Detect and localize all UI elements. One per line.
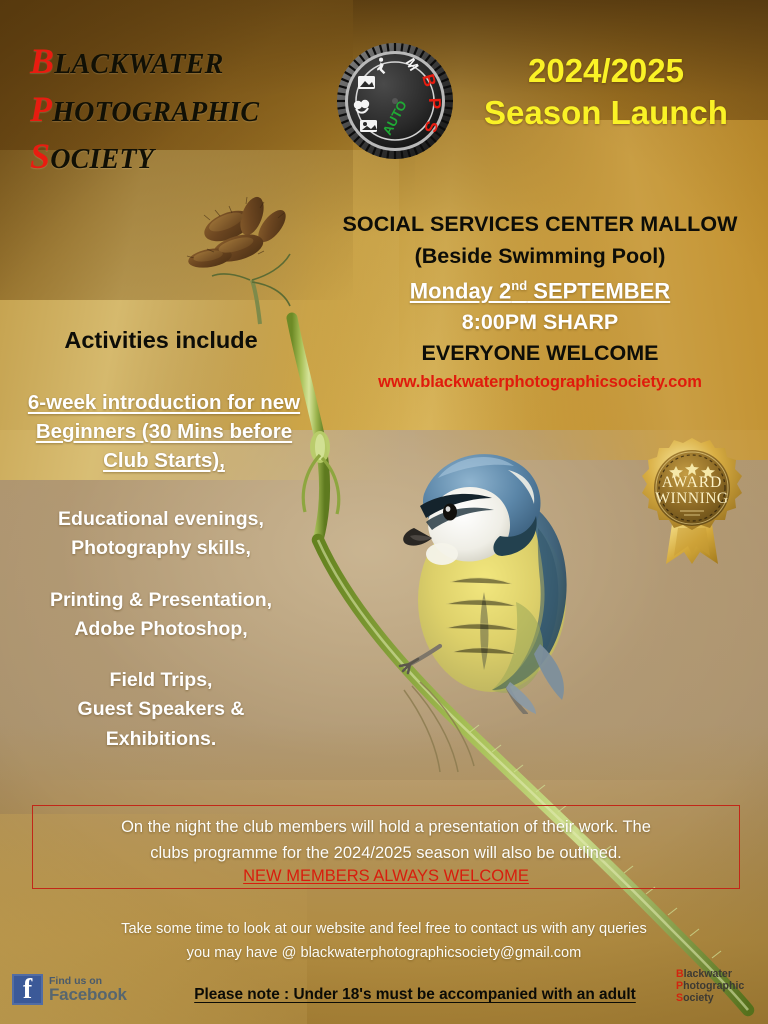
season-year: 2024/2025 xyxy=(456,50,756,92)
mini-logo-cap-b: B xyxy=(676,968,684,980)
club-title-cap-b: B xyxy=(30,41,54,81)
award-line2: WINNING xyxy=(655,490,728,507)
award-rosette-icon: AWARD WINNING xyxy=(622,432,762,566)
club-title-line-3: SOCIETY xyxy=(30,133,340,181)
season-launch-heading: 2024/2025 Season Launch xyxy=(456,50,756,133)
age-restriction-note: Please note : Under 18's must be accompa… xyxy=(160,986,670,1004)
facebook-badge[interactable]: f Find us on Facebook xyxy=(12,974,127,1005)
club-title-line-2: PHOTOGRAPHIC xyxy=(30,86,340,134)
club-title-cap-p: P xyxy=(30,89,52,129)
svg-text:P: P xyxy=(425,97,444,109)
notice-line-1: On the night the club members will hold … xyxy=(51,815,721,841)
facebook-glyph: f xyxy=(23,975,32,1005)
activities-list: Educational evenings, Photography skills… xyxy=(16,505,306,754)
activity-item: Guest Speakers & xyxy=(16,695,306,724)
activity-group-3: Field Trips, Guest Speakers & Exhibition… xyxy=(16,666,306,754)
activity-item: Exhibitions. xyxy=(16,725,306,754)
venue-details: SOCIAL SERVICES CENTER MALLOW (Beside Sw… xyxy=(316,212,764,392)
camera-mode-dial-icon: M B P S AUTO xyxy=(334,40,456,162)
facebook-f-icon[interactable]: f xyxy=(12,974,43,1005)
activity-item: Field Trips, xyxy=(16,666,306,695)
everyone-welcome: EVERYONE WELCOME xyxy=(316,341,764,366)
activity-item: Photography skills, xyxy=(16,534,306,563)
mini-logo-rest-photographic: hotographic xyxy=(683,980,744,992)
activity-group-1: Educational evenings, Photography skills… xyxy=(16,505,306,564)
club-title-rest-society: OCIETY xyxy=(50,144,154,175)
event-date-day: Monday 2 xyxy=(410,278,511,303)
website-link[interactable]: www.blackwaterphotographicsociety.com xyxy=(316,373,764,392)
contact-line-1: Take some time to look at our website an… xyxy=(34,918,734,942)
activity-item: Adobe Photoshop, xyxy=(16,615,306,644)
season-label: Season Launch xyxy=(456,92,756,134)
event-time: 8:00PM SHARP xyxy=(316,310,764,335)
notice-line-2: clubs programme for the 2024/2025 season… xyxy=(51,841,721,867)
mini-logo-rest-blackwater: lackwater xyxy=(684,968,732,980)
contact-line-2[interactable]: you may have @ blackwaterphotographicsoc… xyxy=(34,942,734,966)
club-title-cap-s: S xyxy=(30,136,50,176)
beginners-course-note: 6-week introduction for new Beginners (3… xyxy=(20,388,308,475)
notice-box: On the night the club members will hold … xyxy=(32,805,740,889)
club-title-rest-photographic: HOTOGRAPHIC xyxy=(52,97,259,128)
poster-canvas: M B P S AUTO xyxy=(0,0,768,1024)
venue-location-note: (Beside Swimming Pool) xyxy=(316,244,764,269)
mini-logo-line-2: Photographic xyxy=(676,980,744,992)
mini-logo-line-1: Blackwater xyxy=(676,968,744,980)
mini-logo-rest-society: ociety xyxy=(683,992,714,1004)
facebook-wordmark: Facebook xyxy=(49,986,127,1003)
activity-item: Educational evenings, xyxy=(16,505,306,534)
event-date-month: SEPTEMBER xyxy=(527,278,670,303)
blue-tit-bird-photo xyxy=(380,432,602,714)
club-title: BLACKWATER PHOTOGRAPHIC SOCIETY xyxy=(30,38,340,181)
club-title-rest-blackwater: LACKWATER xyxy=(54,49,223,80)
event-date-ordinal: nd xyxy=(511,278,527,293)
new-members-welcome: NEW MEMBERS ALWAYS WELCOME xyxy=(51,867,721,886)
venue-name: SOCIAL SERVICES CENTER MALLOW xyxy=(316,212,764,237)
mini-logo-line-3: Society xyxy=(676,992,744,1004)
contact-text: Take some time to look at our website an… xyxy=(34,918,734,965)
facebook-label: Find us on Facebook xyxy=(49,976,127,1004)
club-title-line-1: BLACKWATER xyxy=(30,38,340,86)
mini-club-logo: Blackwater Photographic Society xyxy=(676,968,744,1004)
award-line1: AWARD xyxy=(662,474,723,491)
activity-group-2: Printing & Presentation, Adobe Photoshop… xyxy=(16,586,306,645)
activities-heading: Activities include xyxy=(20,327,302,354)
seedhead-icon xyxy=(186,196,304,332)
activity-item: Printing & Presentation, xyxy=(16,586,306,615)
event-date: Monday 2nd SEPTEMBER xyxy=(316,278,764,304)
